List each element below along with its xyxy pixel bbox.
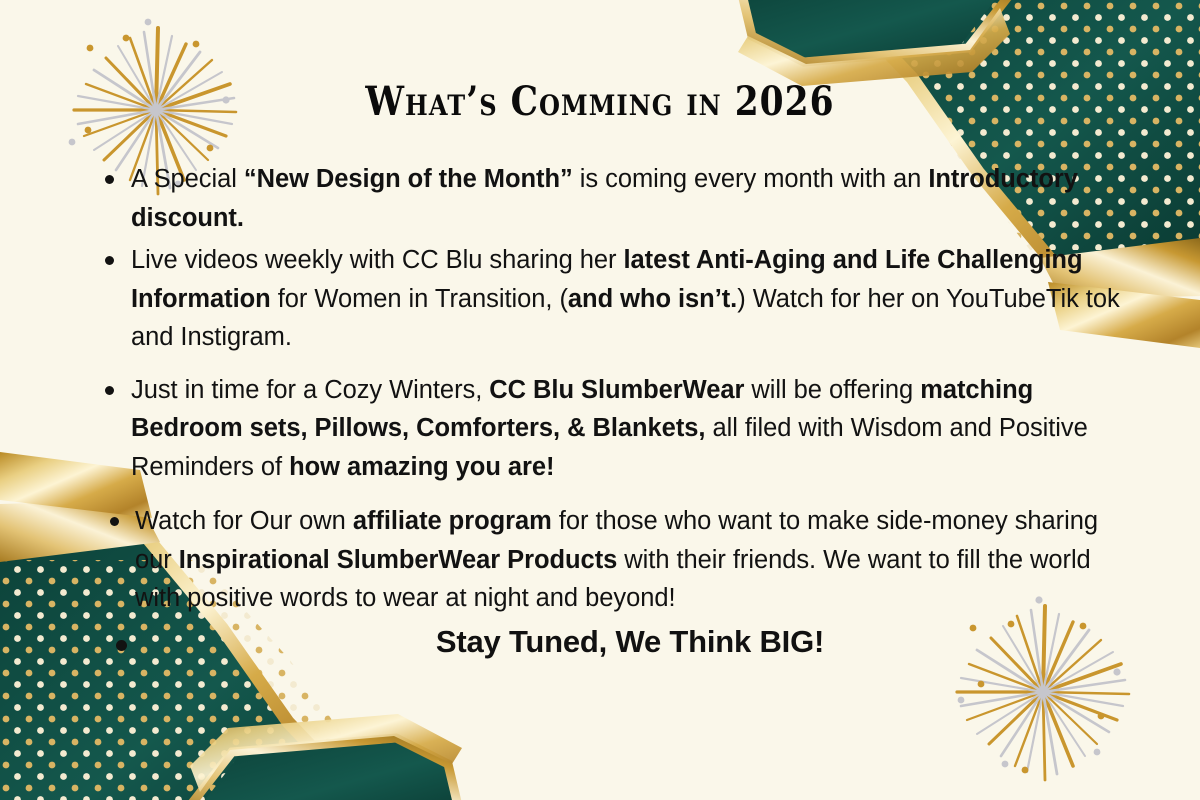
list-item: Watch for Our own affiliate program for … [0,502,1200,618]
bullet-marker [110,517,119,526]
bullet-new-design-text: A Special “New Design of the Month” is c… [131,165,1078,232]
list-item-finale: Stay Tuned, We Think BIG! [0,624,1200,672]
spacer [0,486,1200,502]
stay-tuned-text: Stay Tuned, We Think BIG! [0,624,1200,660]
list-item: Just in time for a Cozy Winters, CC Blu … [0,371,1200,487]
content-layer: What’s Comming in 2026 A Special “New De… [0,0,1200,800]
bullet-marker [105,175,114,184]
bullet-list: A Special “New Design of the Month” is c… [0,160,1200,672]
poster-canvas: What’s Comming in 2026 A Special “New De… [0,0,1200,800]
bullet-affiliate-text: Watch for Our own affiliate program for … [135,507,1098,612]
spacer [0,357,1200,371]
page-title: What’s Comming in 2026 [84,78,1116,125]
bullet-live-videos-text: Live videos weekly with CC Blu sharing h… [131,246,1120,351]
bullet-slumberwear-text: Just in time for a Cozy Winters, CC Blu … [131,376,1088,481]
list-item: A Special “New Design of the Month” is c… [0,160,1200,237]
bullet-marker [105,256,114,265]
list-item: Live videos weekly with CC Blu sharing h… [0,241,1200,357]
bullet-marker [105,386,114,395]
